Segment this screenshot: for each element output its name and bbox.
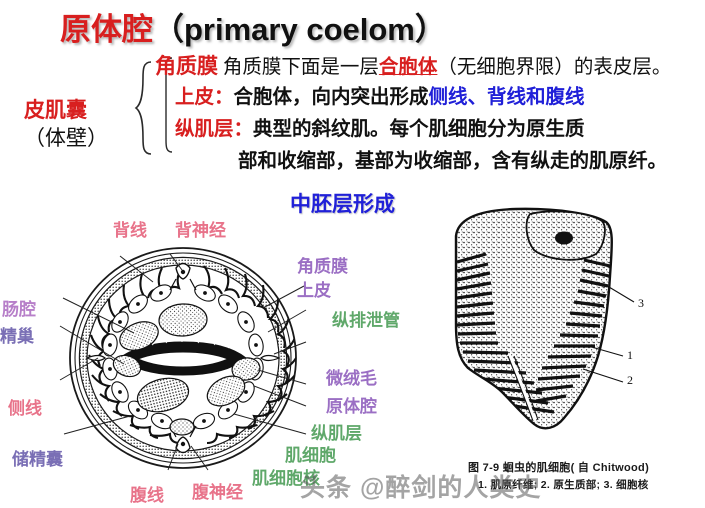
label-primary-coelom: 原体腔: [326, 392, 377, 417]
slide-canvas: 原体腔（primary coelom） 皮肌囊 （体壁） 角质膜 角质膜下面是一…: [0, 0, 705, 508]
callout-1: 1: [627, 348, 633, 363]
group-label-pijinang: 皮肌囊: [24, 94, 87, 124]
row-key-jiaozhimo: 角质膜: [155, 54, 218, 78]
label-longitudinal-excretory-canal: 纵排泄管: [332, 306, 400, 331]
label-intestinal-lumen: 肠腔: [2, 295, 36, 320]
ascaris-cross-section-figure: [58, 238, 308, 478]
row-key-shangpi: 上皮：: [175, 87, 234, 108]
row-blue-cexian: 侧线、背线和腹线: [429, 87, 585, 108]
center-note-mesoderm: 中胚层形成: [290, 188, 395, 218]
group-sublabel-tibi: （体壁）: [24, 122, 108, 152]
callout-3: 3: [638, 296, 644, 311]
label-epidermis: 上皮: [297, 276, 331, 301]
outline-row-zongjiceng-cont: 部和收缩部，基部为收缩部，含有纵走的肌原纤。: [238, 152, 667, 172]
callout-2: 2: [627, 373, 633, 388]
row-text-a-1: 合胞体，向内突出形成: [234, 87, 429, 108]
row-highlight-hebaoti: 合胞体: [379, 57, 438, 78]
muscle-cell-figure: [438, 206, 668, 456]
label-lateral-line: 侧线: [8, 394, 42, 419]
label-cuticle: 角质膜: [297, 252, 348, 277]
outline-row-zongjiceng: 纵肌层：典型的斜纹肌。每个肌细胞分为原生质: [175, 120, 585, 140]
cell-nucleus: [527, 211, 605, 259]
watermark-text: 头条 @醉剑的人类史: [300, 468, 541, 504]
row-text-a-0: 角质膜下面是一层: [223, 57, 379, 78]
row-text-b-0: （无细胞界限）的表皮层。: [437, 57, 671, 78]
label-ventral-nerve: 腹神经: [192, 478, 243, 503]
outline-row-jiaozhimo: 角质膜 角质膜下面是一层合胞体（无细胞界限）的表皮层。: [155, 56, 671, 78]
label-dorsal-line: 背线: [113, 216, 147, 241]
row-text-a-2: 典型的斜纹肌。每个肌细胞分为原生质: [253, 119, 585, 140]
label-testis: 精巢: [0, 322, 34, 347]
label-seminal-vesicle: 储精囊: [12, 445, 63, 470]
row-key-zongjiceng: 纵肌层：: [175, 119, 253, 140]
gonad-oval: [170, 419, 194, 435]
label-ventral-line: 腹线: [130, 481, 164, 506]
label-muscle-cell: 肌细胞: [285, 441, 336, 466]
label-dorsal-nerve: 背神经: [175, 216, 226, 241]
outline-row-shangpi: 上皮：合胞体，向内突出形成侧线、背线和腹线: [175, 88, 585, 108]
row-text-b-2: 部和收缩部，基部为收缩部，含有纵走的肌原纤。: [238, 151, 667, 172]
label-microvilli: 微绒毛: [326, 364, 377, 389]
